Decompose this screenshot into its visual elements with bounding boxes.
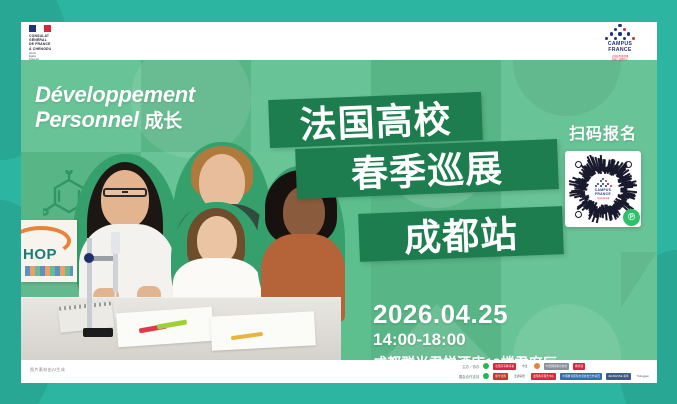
- cf-name-france: FRANCE: [593, 48, 647, 54]
- wechat-miniprogram-icon: ℗: [623, 209, 640, 226]
- partner-logo-strip: 主办／协办 法国高等教育署 中法 中国国际教育交流 教育展 展会合作支持 留学法…: [453, 362, 651, 380]
- campus-france-wordmark: CAMPUS FRANCE: [593, 42, 647, 53]
- poster-card: CONSULAT GÉNÉRAL DE FRANCE À CHENGDU Lib…: [21, 22, 657, 383]
- french-heading-personnel: Personnel: [35, 107, 139, 132]
- french-heading-line-1: Développement: [35, 82, 195, 107]
- qr-finder-mark: [625, 161, 632, 168]
- face-3: [197, 216, 237, 264]
- qr-label: 扫码报名: [565, 120, 641, 144]
- event-venue: 成都群光君悦酒店12楼君府厅: [373, 353, 557, 360]
- partner-row-caption: 主办／协办: [453, 364, 479, 369]
- poster-body: Développement Personnel 成长: [21, 60, 657, 360]
- qr-finder-mark: [575, 211, 582, 218]
- cf-sub-2: 中国 - 成都中心: [593, 58, 647, 61]
- title-banner-line-2: 春季巡展: [295, 139, 559, 199]
- event-date: 2026.04.25: [373, 300, 557, 328]
- qr-center-logo: CAMPUS FRANCE 法国高等教育署: [590, 176, 617, 203]
- ai-disclaimer-text: 图片素材由AI生成: [30, 367, 65, 373]
- partner-mark: [483, 363, 489, 369]
- campus-france-logo: CAMPUS FRANCE 法国高等教育署 中国 - 成都中心: [593, 24, 647, 61]
- qr-code-card[interactable]: CAMPUS FRANCE 法国高等教育署 ℗: [565, 151, 641, 227]
- desk-surface: [21, 298, 341, 360]
- partner-logo: 中国国际教育交流: [544, 363, 570, 370]
- qr-cf-france: FRANCE: [595, 193, 612, 197]
- qr-dash: [604, 207, 606, 210]
- title-text-2: 春季巡展: [350, 138, 504, 198]
- hop-sign: HOP: [21, 220, 77, 282]
- partner-row: 展会合作支持 留学法国 法语联盟 法国教育服务中心 中国教育国际交流协会合作项目…: [453, 372, 651, 380]
- partner-row-caption: 展会合作支持: [453, 374, 479, 379]
- partner-logo: 法国高等教育署: [493, 363, 516, 370]
- consulate-motto: Liberté Égalité Fraternité: [29, 53, 91, 62]
- paper-sheet-2: [210, 311, 316, 350]
- qr-finder-mark: [575, 161, 582, 168]
- partner-logo: 法语联盟: [512, 373, 527, 380]
- consulate-general-logo: CONSULAT GÉNÉRAL DE FRANCE À CHENGDU Lib…: [29, 25, 91, 62]
- bg-triangle-2: [621, 252, 657, 308]
- glasses-bridge: [122, 191, 128, 193]
- partner-logo: 留学法国: [493, 373, 508, 380]
- qr-cf-subtitle: 法国高等教育署: [597, 198, 610, 200]
- french-flag-icon: [29, 25, 51, 32]
- hop-sign-text: HOP: [23, 246, 57, 263]
- partner-logo: 中国教育国际交流协会合作项目: [560, 373, 602, 380]
- qr-cf-wordmark: CAMPUS FRANCE: [595, 189, 612, 197]
- consulate-name: CONSULAT GÉNÉRAL DE FRANCE À CHENGDU: [29, 34, 91, 51]
- partner-logo: JEUNESSE 青年: [606, 373, 631, 380]
- partner-row: 主办／协办 法国高等教育署 中法 中国国际教育交流 教育展: [453, 362, 651, 370]
- french-heading-line-2: Personnel 成长: [35, 107, 195, 134]
- lab-stand-icon: [83, 232, 145, 340]
- title-text-3: 成都站: [403, 204, 519, 262]
- campus-france-pyramid-icon: [603, 24, 637, 41]
- face-1: [101, 170, 149, 228]
- french-heading-chinese: 成长: [144, 111, 181, 132]
- partner-logo: 中法: [520, 363, 529, 370]
- consulate-line-4: À CHENGDU: [29, 47, 91, 51]
- partner-mark: [483, 373, 489, 379]
- qr-campus-france-pyramid-icon: [594, 178, 613, 188]
- poster-header: CONSULAT GÉNÉRAL DE FRANCE À CHENGDU Lib…: [21, 22, 657, 60]
- event-time: 14:00-18:00: [373, 329, 557, 351]
- motto-fraternite: Fraternité: [29, 59, 91, 62]
- poster-canvas: CONSULAT GÉNÉRAL DE FRANCE À CHENGDU Lib…: [0, 0, 677, 404]
- title-banner-line-3: 成都站: [358, 206, 564, 262]
- hop-sign-stripe: [25, 266, 73, 276]
- partner-logo: 教育展: [573, 363, 585, 370]
- partner-logo: 法国教育服务中心: [531, 373, 557, 380]
- partner-logo: Toboggan: [635, 373, 651, 380]
- event-information: 2026.04.25 14:00-18:00 成都群光君悦酒店12楼君府厅: [373, 300, 557, 360]
- partner-mark: [534, 363, 540, 369]
- poster-footer: 图片素材由AI生成 主办／协办 法国高等教育署 中法 中国国际教育交流 教育展 …: [21, 360, 657, 383]
- qr-registration-block[interactable]: 扫码报名: [565, 120, 641, 227]
- campus-france-subtitle: 法国高等教育署 中国 - 成都中心: [593, 55, 647, 61]
- french-heading: Développement Personnel 成长: [35, 82, 195, 134]
- students-discussion-photo: HOP: [21, 128, 341, 360]
